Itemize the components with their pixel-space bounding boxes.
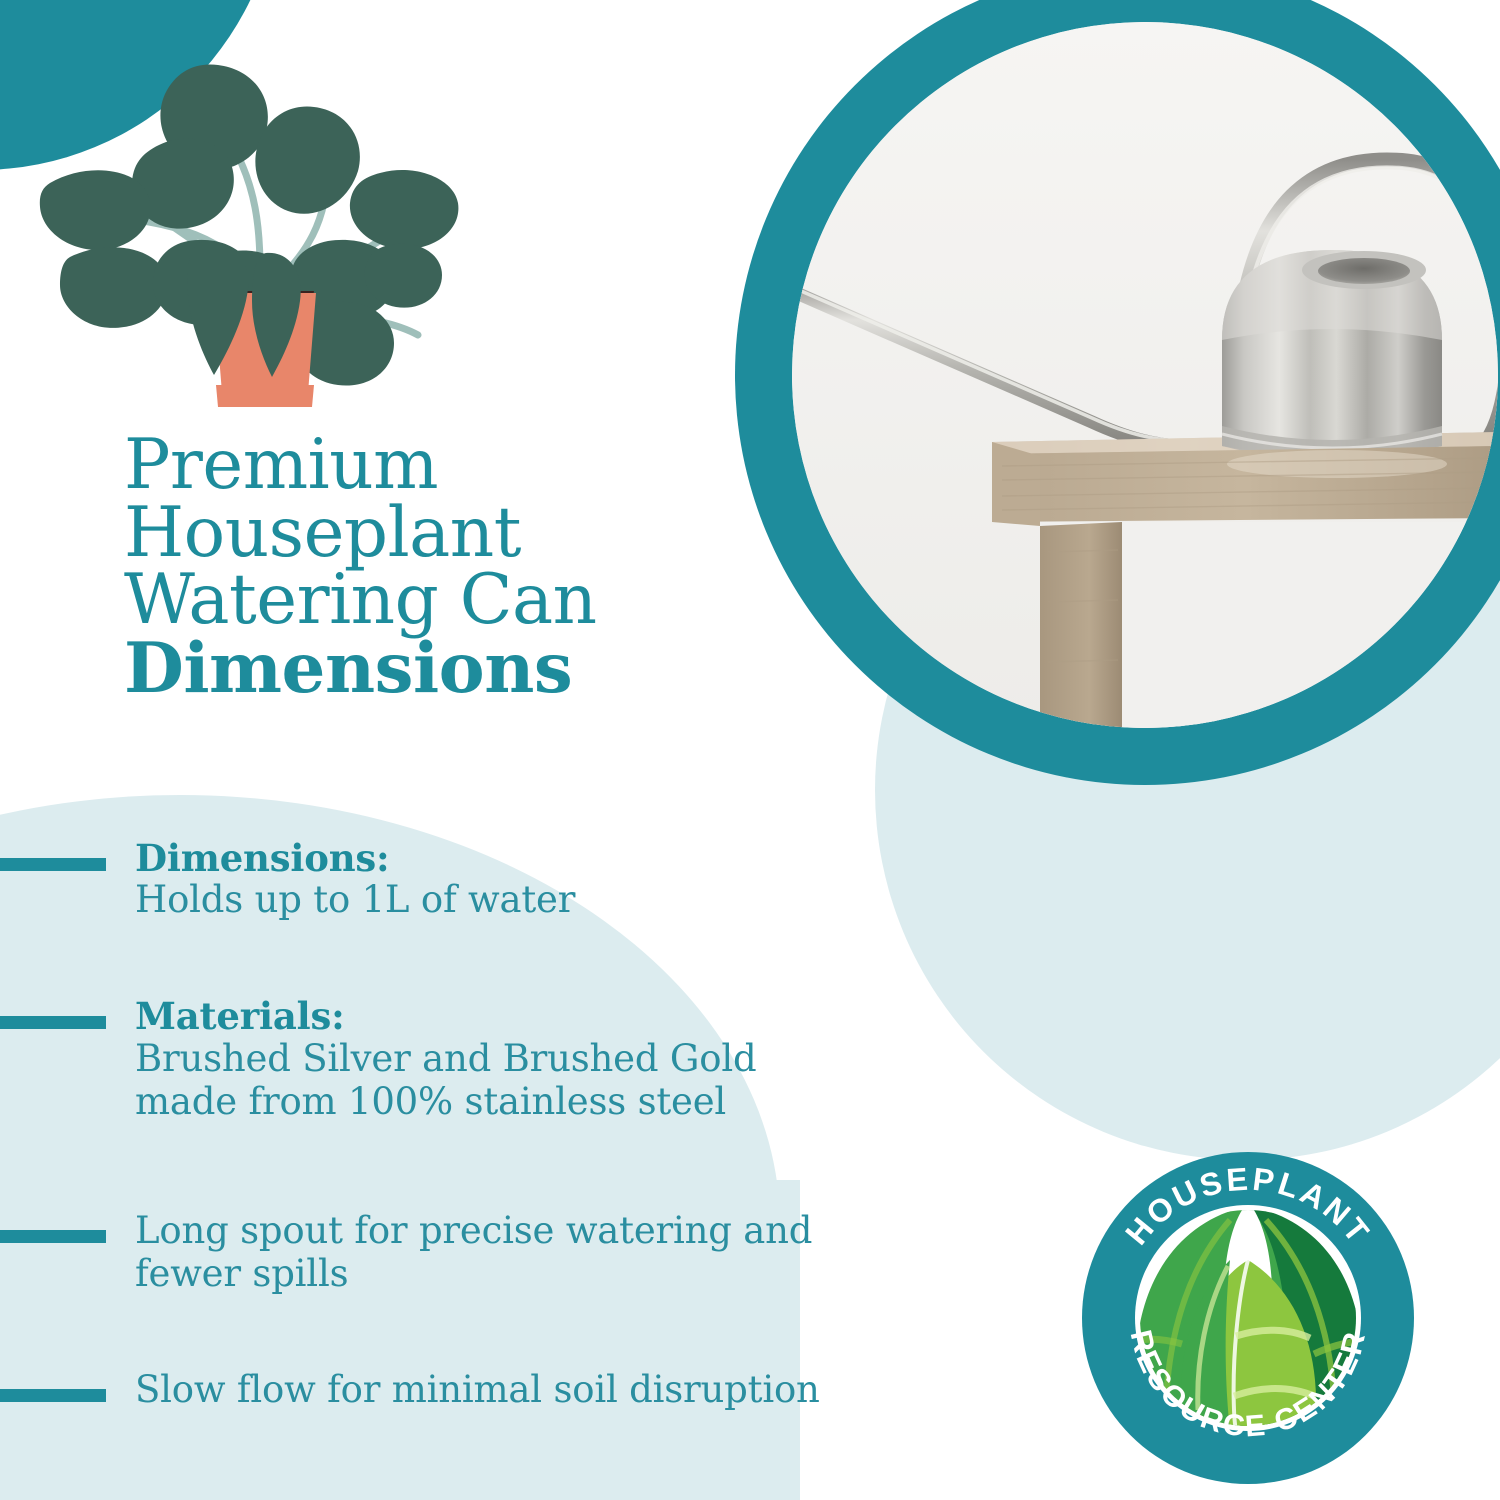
list-item: Materials: Brushed Silver and Brushed Go… (0, 996, 960, 1123)
list-item: Long spout for precise watering and fewe… (0, 1210, 960, 1296)
product-photo (792, 22, 1498, 728)
dash-icon (0, 1230, 106, 1243)
potted-plant-illustration (28, 45, 488, 440)
list-item-text: Brushed Silver and Brushed Gold made fro… (135, 1038, 960, 1124)
infographic-canvas: Premium Houseplant Watering Can Dimensio… (0, 0, 1500, 1500)
title-line-4: Dimensions (124, 635, 764, 703)
title-line-2: Houseplant (124, 500, 764, 568)
list-item-text: Long spout for precise watering and fewe… (135, 1210, 960, 1296)
title-line-1: Premium (124, 432, 764, 500)
list-item: Slow flow for minimal soil disruption (0, 1369, 960, 1423)
dash-icon (0, 1016, 106, 1029)
title-line-3: Watering Can (124, 567, 764, 635)
brand-logo: HOUSEPLANT RESOURCE CENTER (1078, 1148, 1418, 1488)
dash-icon (0, 1389, 106, 1402)
list-item-label: Dimensions: (135, 838, 960, 879)
feature-list: Dimensions: Holds up to 1L of water Mate… (0, 838, 960, 1459)
list-item-label: Materials: (135, 996, 960, 1037)
dash-icon (0, 858, 106, 871)
product-photo-circle (735, 0, 1500, 785)
page-title: Premium Houseplant Watering Can Dimensio… (124, 432, 764, 702)
list-item-text: Slow flow for minimal soil disruption (135, 1369, 960, 1412)
list-item-text: Holds up to 1L of water (135, 879, 960, 922)
list-item: Dimensions: Holds up to 1L of water (0, 838, 960, 922)
